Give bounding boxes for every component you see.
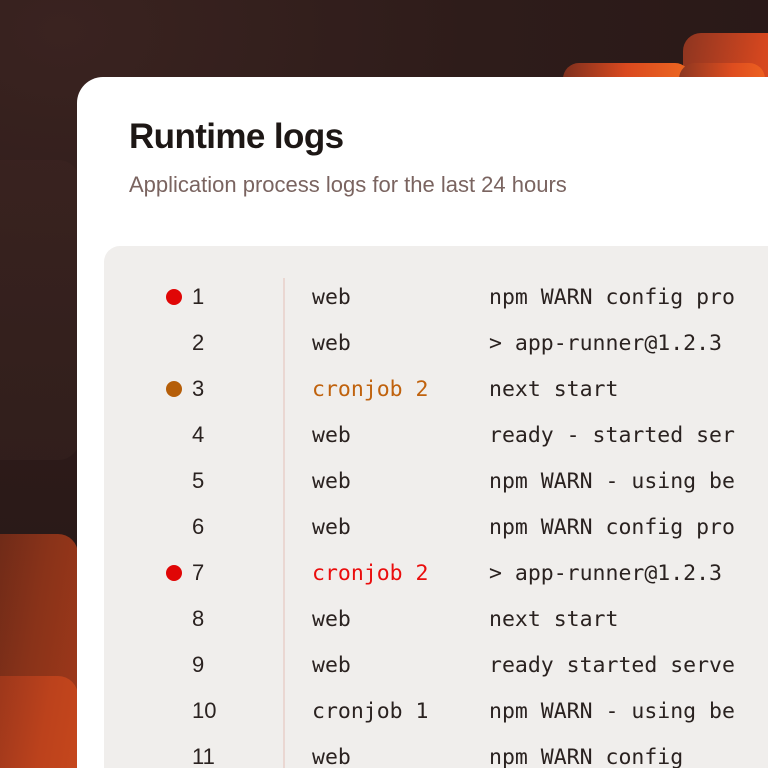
- log-row[interactable]: 11webnpm WARN config: [104, 734, 768, 768]
- log-source: web: [312, 285, 351, 310]
- log-source: cronjob 1: [312, 699, 429, 724]
- status-dot-placeholder: [166, 519, 182, 535]
- log-row[interactable]: 7cronjob 2> app-runner@1.2.3: [104, 550, 768, 596]
- log-message: > app-runner@1.2.3: [489, 331, 722, 356]
- log-line-number: 7: [192, 560, 244, 586]
- error-dot-icon: [166, 289, 182, 305]
- log-source: web: [312, 423, 351, 448]
- warning-dot-icon: [166, 381, 182, 397]
- log-line-number: 3: [192, 376, 244, 402]
- status-dot-placeholder: [166, 335, 182, 351]
- error-dot-icon: [166, 565, 182, 581]
- log-line-number: 6: [192, 514, 244, 540]
- log-row[interactable]: 9webready started serve: [104, 642, 768, 688]
- log-line-number: 11: [192, 744, 244, 768]
- log-source: web: [312, 653, 351, 678]
- page-subtitle: Application process logs for the last 24…: [129, 172, 768, 198]
- log-message: npm WARN config: [489, 745, 683, 768]
- log-row[interactable]: 4webready - started ser: [104, 412, 768, 458]
- log-row[interactable]: 8webnext start: [104, 596, 768, 642]
- log-message: next start: [489, 607, 618, 632]
- log-line-number: 9: [192, 652, 244, 678]
- log-source: web: [312, 607, 351, 632]
- log-line-number: 8: [192, 606, 244, 632]
- decorative-shape-left-red-lower: [0, 676, 78, 768]
- log-message: npm WARN config pro: [489, 515, 735, 540]
- runtime-logs-card: Runtime logs Application process logs fo…: [77, 77, 768, 768]
- log-line-number: 10: [192, 698, 244, 724]
- log-line-number: 1: [192, 284, 244, 310]
- log-row[interactable]: 10cronjob 1npm WARN - using be: [104, 688, 768, 734]
- log-message: npm WARN config pro: [489, 285, 735, 310]
- log-row-list: 1webnpm WARN config pro2web> app-runner@…: [104, 274, 768, 768]
- log-source: cronjob 2: [312, 377, 429, 402]
- log-source: web: [312, 469, 351, 494]
- log-row[interactable]: 5webnpm WARN - using be: [104, 458, 768, 504]
- decorative-shape-left-dark: [0, 160, 80, 460]
- log-row[interactable]: 3cronjob 2next start: [104, 366, 768, 412]
- card-header: Runtime logs Application process logs fo…: [77, 77, 768, 199]
- log-message: npm WARN - using be: [489, 699, 735, 724]
- log-panel[interactable]: 1webnpm WARN config pro2web> app-runner@…: [104, 246, 768, 768]
- log-source: cronjob 2: [312, 561, 429, 586]
- status-dot-placeholder: [166, 703, 182, 719]
- log-message: next start: [489, 377, 618, 402]
- log-row[interactable]: 1webnpm WARN config pro: [104, 274, 768, 320]
- status-dot-placeholder: [166, 473, 182, 489]
- page-title: Runtime logs: [129, 117, 768, 156]
- log-message: npm WARN - using be: [489, 469, 735, 494]
- status-dot-placeholder: [166, 657, 182, 673]
- status-dot-placeholder: [166, 749, 182, 765]
- log-row[interactable]: 6webnpm WARN config pro: [104, 504, 768, 550]
- log-message: > app-runner@1.2.3: [489, 561, 722, 586]
- status-dot-placeholder: [166, 427, 182, 443]
- log-line-number: 5: [192, 468, 244, 494]
- status-dot-placeholder: [166, 611, 182, 627]
- log-message: ready started serve: [489, 653, 735, 678]
- log-line-number: 4: [192, 422, 244, 448]
- screenshot-root: Runtime logs Application process logs fo…: [0, 0, 768, 768]
- log-source: web: [312, 331, 351, 356]
- log-message: ready - started ser: [489, 423, 735, 448]
- log-source: web: [312, 745, 351, 768]
- log-source: web: [312, 515, 351, 540]
- log-line-number: 2: [192, 330, 244, 356]
- log-row[interactable]: 2web> app-runner@1.2.3: [104, 320, 768, 366]
